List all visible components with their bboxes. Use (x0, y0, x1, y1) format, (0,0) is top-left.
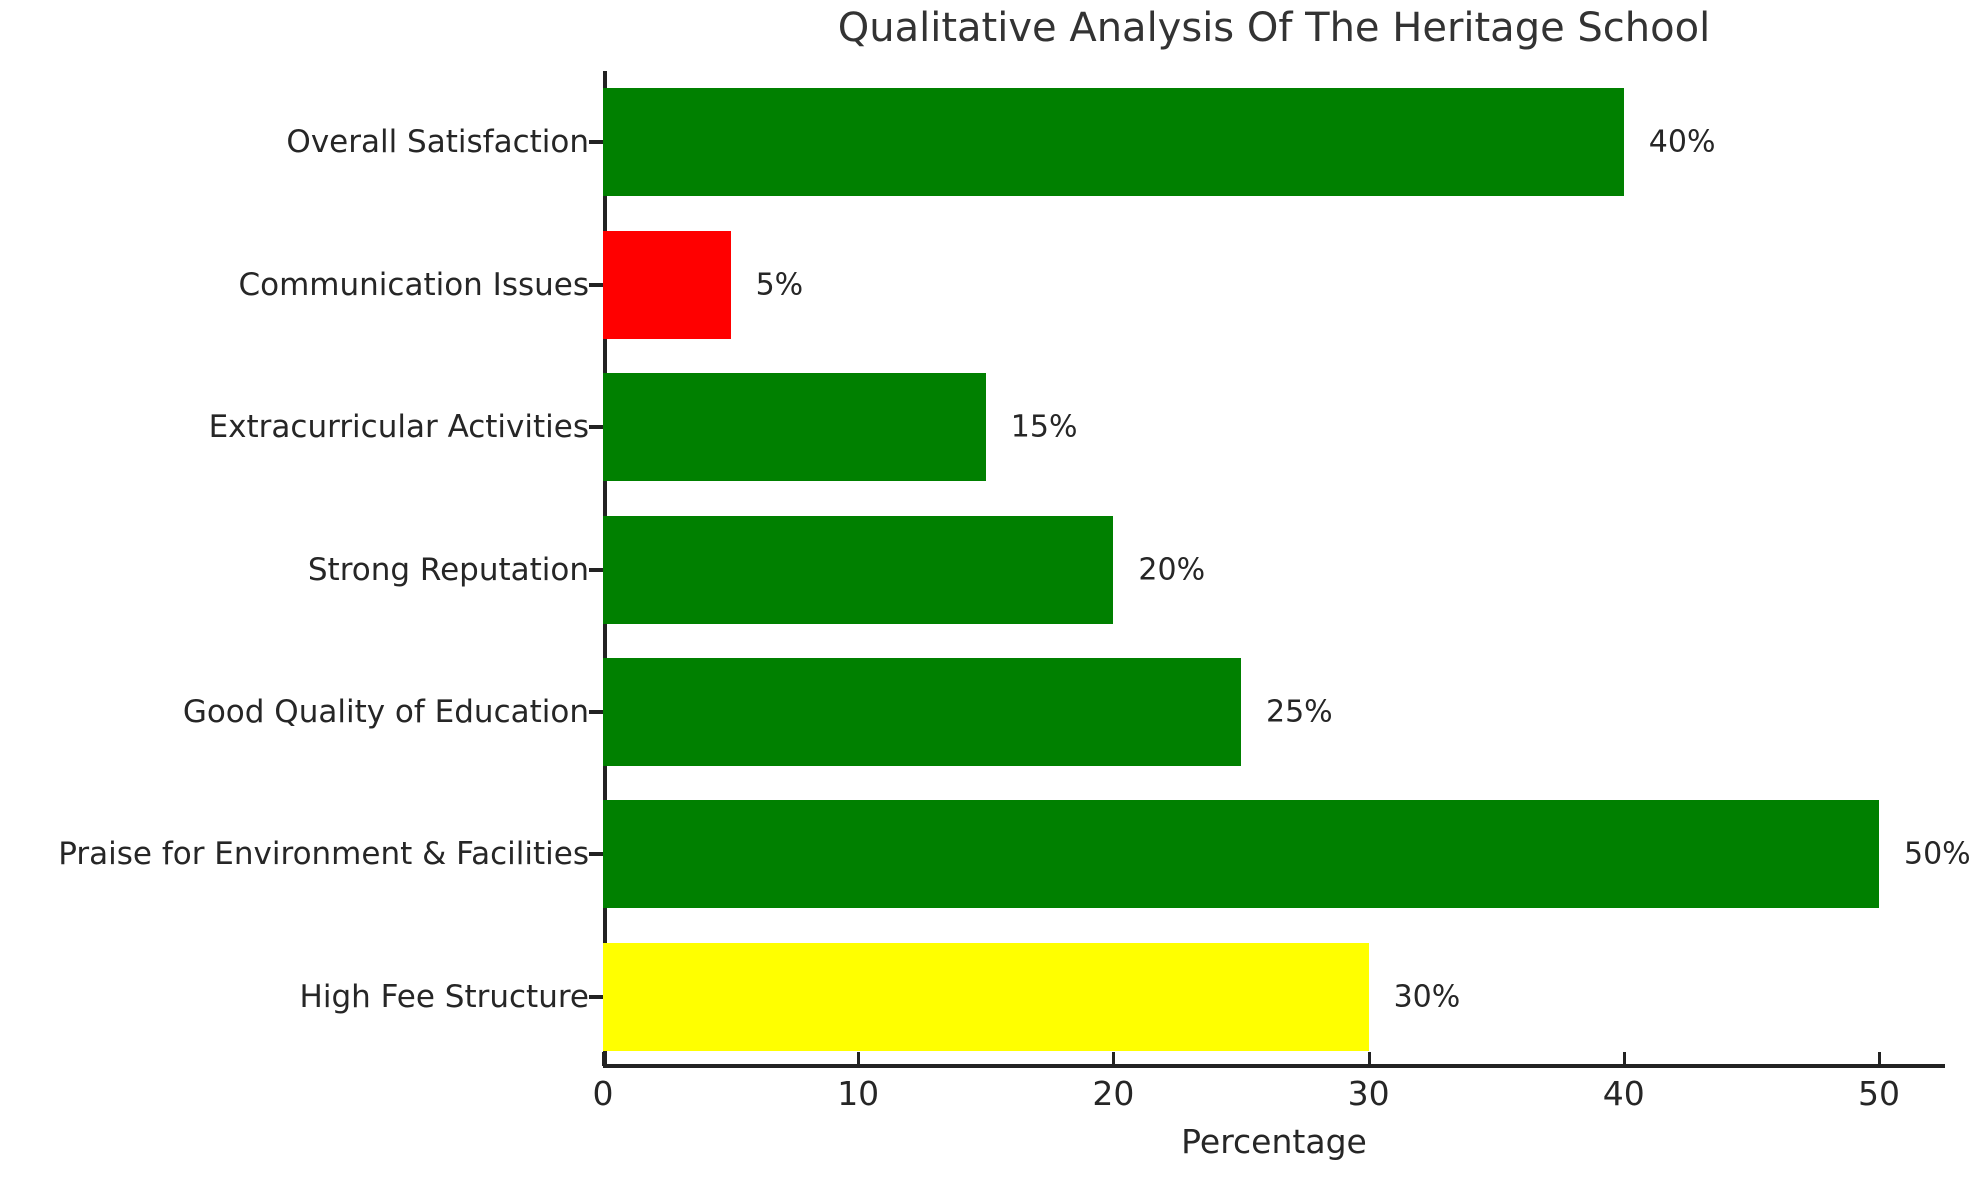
y-tick-mark (589, 568, 603, 572)
y-tick-mark (589, 995, 603, 999)
x-tick-mark (1368, 1052, 1371, 1066)
y-tick-mark (589, 140, 603, 144)
bar (603, 231, 731, 339)
bar-value-label: 20% (1138, 552, 1205, 587)
y-tick-mark (589, 425, 603, 429)
y-tick-label: Communication Issues (238, 267, 589, 303)
y-tick-mark (589, 283, 603, 287)
y-tick-mark (589, 710, 603, 714)
y-tick-label: Good Quality of Education (183, 694, 589, 730)
x-tick-label: 50 (1858, 1074, 1900, 1113)
bar (603, 88, 1624, 196)
chart-title: Qualitative Analysis Of The Heritage Sch… (603, 6, 1945, 50)
x-tick-mark (857, 1052, 860, 1066)
x-tick-label: 40 (1603, 1074, 1645, 1113)
bar-value-label: 30% (1394, 979, 1461, 1014)
bar-value-label: 40% (1649, 125, 1716, 160)
x-tick-mark (602, 1052, 605, 1066)
x-tick-label: 10 (837, 1074, 879, 1113)
x-axis-label: Percentage (603, 1122, 1945, 1161)
x-tick-label: 20 (1092, 1074, 1134, 1113)
chart-figure: Qualitative Analysis Of The Heritage Sch… (0, 0, 1985, 1180)
bar-value-label: 25% (1266, 694, 1333, 729)
y-tick-label: Praise for Environment & Facilities (58, 836, 589, 872)
bar (603, 943, 1369, 1051)
bar (603, 373, 986, 481)
y-tick-label: High Fee Structure (300, 979, 589, 1015)
bar (603, 516, 1113, 624)
bar (603, 658, 1241, 766)
bar-value-label: 50% (1904, 837, 1971, 872)
x-tick-label: 0 (593, 1074, 614, 1113)
bar-value-label: 5% (756, 267, 804, 302)
x-tick-mark (1112, 1052, 1115, 1066)
x-tick-label: 30 (1348, 1074, 1390, 1113)
x-axis-spine (603, 1064, 1945, 1068)
y-tick-label: Overall Satisfaction (286, 124, 589, 160)
x-tick-mark (1878, 1052, 1881, 1066)
y-tick-label: Strong Reputation (308, 552, 589, 588)
x-tick-mark (1623, 1052, 1626, 1066)
y-tick-mark (589, 852, 603, 856)
bar-value-label: 15% (1011, 410, 1078, 445)
y-tick-label: Extracurricular Activities (209, 409, 589, 445)
bar (603, 800, 1879, 908)
